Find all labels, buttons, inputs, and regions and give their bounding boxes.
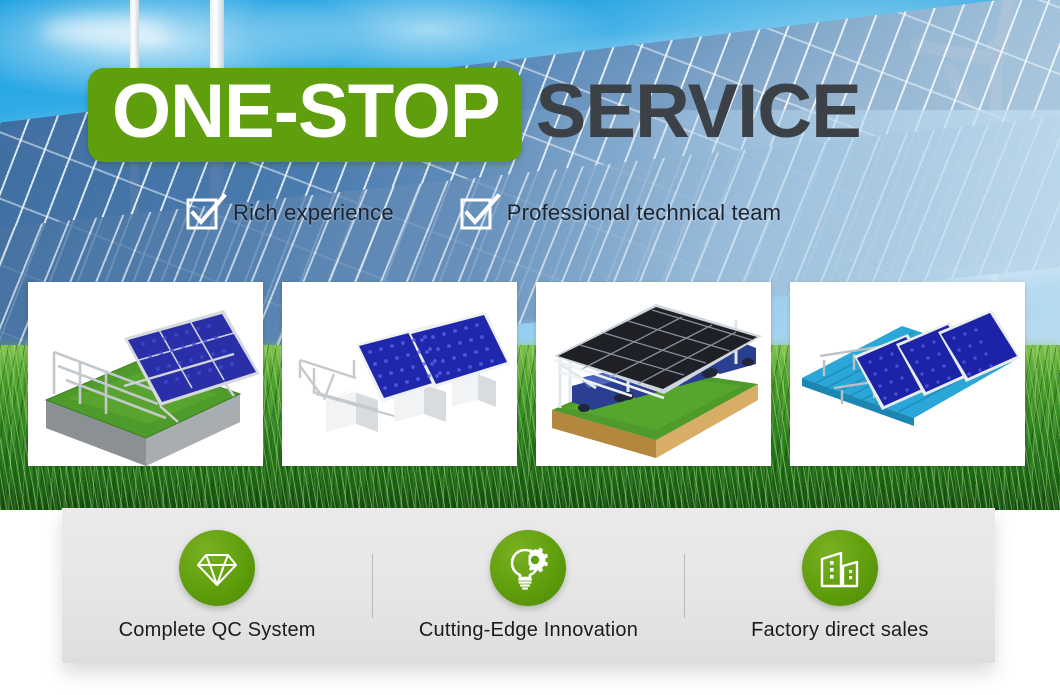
product-card-flat-roof-ballast[interactable] xyxy=(282,282,517,466)
checkbox-checked-icon xyxy=(460,196,494,230)
product-card-list xyxy=(28,282,1025,466)
check-feature-label: Professional technical team xyxy=(507,200,781,226)
check-feature-item: Professional technical team xyxy=(460,196,781,230)
product-card-metal-roof[interactable] xyxy=(790,282,1025,466)
lightbulb-gear-icon xyxy=(490,530,566,606)
headline-rest-text: SERVICE xyxy=(536,74,861,156)
check-feature-list: Rich experience Professional technical t… xyxy=(186,196,781,230)
diamond-icon xyxy=(179,530,255,606)
product-card-ground-mount[interactable] xyxy=(28,282,263,466)
check-feature-label: Rich experience xyxy=(233,200,394,226)
factory-building-icon xyxy=(802,530,878,606)
product-card-solar-carport[interactable] xyxy=(536,282,771,466)
checkbox-checked-icon xyxy=(186,196,220,230)
feature-bar: Complete QC System xyxy=(62,508,995,663)
headline-highlight-badge: ONE-STOP xyxy=(88,68,522,162)
feature-item-innovation[interactable]: Cutting-Edge Innovation xyxy=(373,530,683,642)
feature-label: Cutting-Edge Innovation xyxy=(419,619,638,642)
one-stop-service-banner: ONE-STOP SERVICE Rich experience Profess… xyxy=(0,0,1060,695)
feature-item-factory-sales[interactable]: Factory direct sales xyxy=(685,530,995,642)
headline-highlight-text: ONE-STOP xyxy=(112,74,500,150)
feature-label: Factory direct sales xyxy=(751,619,928,642)
feature-label: Complete QC System xyxy=(119,619,316,642)
check-feature-item: Rich experience xyxy=(186,196,394,230)
headline: ONE-STOP SERVICE xyxy=(88,68,861,162)
feature-item-qc-system[interactable]: Complete QC System xyxy=(62,530,372,642)
